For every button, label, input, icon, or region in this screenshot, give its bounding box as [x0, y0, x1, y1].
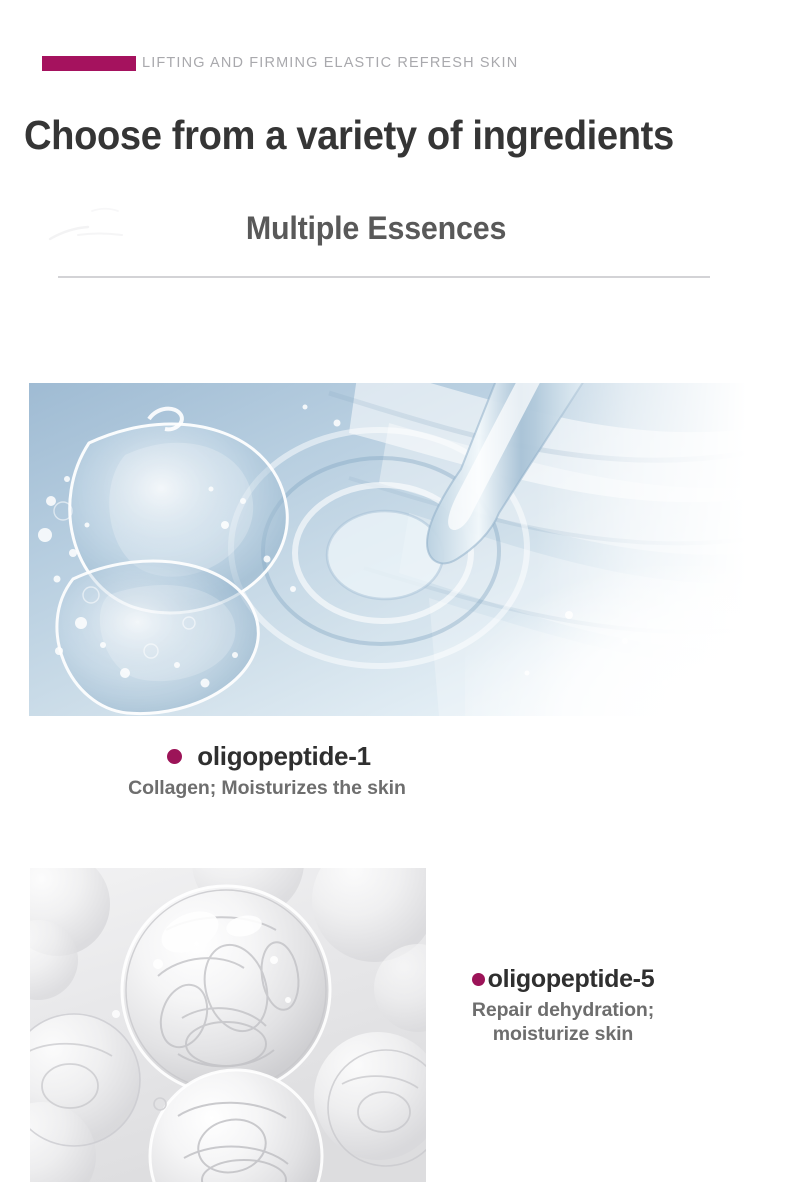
image-fade-corner — [465, 566, 765, 716]
ingredient-title-row: oligopeptide-1 — [52, 742, 482, 771]
ingredient-caption-oligopeptide-5: oligopeptide-5 Repair dehydration; moist… — [434, 966, 692, 1046]
ingredient-description-line2: moisturize skin — [434, 1022, 692, 1046]
ingredient-description-line1: Repair dehydration; — [434, 998, 692, 1022]
ingredient-caption-oligopeptide-1: oligopeptide-1 Collagen; Moisturizes the… — [52, 742, 482, 800]
section-subtitle: Multiple Essences — [19, 210, 733, 247]
bullet-dot-icon — [472, 973, 485, 986]
ingredient-image-oligopeptide-5 — [30, 868, 426, 1182]
ingredient-title-row: oligopeptide-5 — [434, 966, 692, 994]
page-title: Choose from a variety of ingredients — [24, 112, 714, 159]
bullet-dot-icon — [167, 749, 182, 764]
kicker-row: LIFTING AND FIRMING ELASTIC REFRESH SKIN — [42, 56, 518, 71]
ingredient-name: oligopeptide-1 — [197, 742, 370, 771]
divider — [58, 276, 710, 278]
ingredient-description: Collagen; Moisturizes the skin — [52, 776, 482, 800]
accent-bar — [42, 56, 136, 71]
kicker-text: LIFTING AND FIRMING ELASTIC REFRESH SKIN — [142, 56, 518, 71]
ingredient-image-oligopeptide-1 — [29, 383, 765, 716]
product-ingredients-page: LIFTING AND FIRMING ELASTIC REFRESH SKIN… — [0, 0, 790, 1182]
ingredient-name: oligopeptide-5 — [488, 966, 655, 994]
ingredient-description: Repair dehydration; moisturize skin — [434, 998, 692, 1047]
